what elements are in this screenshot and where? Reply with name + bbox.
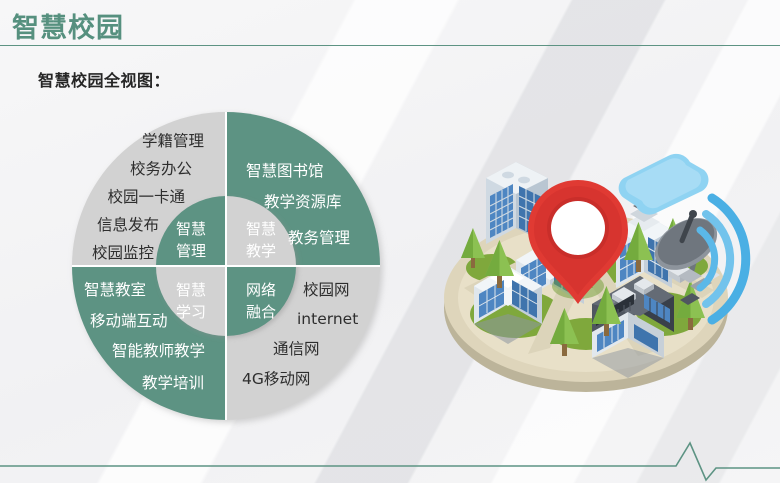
inner-label-teaching-line2: 教学: [246, 242, 276, 260]
inner-label-network-line2: 融合: [246, 303, 276, 321]
label-4g-mobile-network: 4G移动网: [242, 370, 310, 388]
label-smart-classroom: 智慧教室: [84, 281, 146, 299]
section-subtitle: 智慧校园全视图：: [38, 67, 170, 91]
label-student-status: 学籍管理: [142, 132, 204, 150]
label-school-office: 校务办公: [130, 160, 192, 178]
label-teaching-resources: 教学资源库: [264, 193, 342, 211]
label-campus-card: 校园一卡通: [107, 188, 185, 206]
slide-header: 智慧校园: [0, 0, 780, 46]
label-communication-network: 通信网: [273, 340, 320, 358]
smart-city-illustration: [428, 118, 780, 424]
ecg-heartbeat-line: [0, 443, 780, 480]
inner-label-learning-line2: 学习: [176, 303, 206, 321]
inner-label-management-line1: 智慧: [176, 220, 206, 238]
label-smart-teacher-teaching: 智能教师教学: [112, 342, 205, 360]
label-campus-network: 校园网: [303, 281, 350, 299]
cloud-icon: [619, 154, 709, 215]
smart-campus-wheel-diagram: 学籍管理 校务办公 校园一卡通 信息发布 校园监控 智慧图书馆 教学资源库 教务…: [70, 110, 382, 422]
label-campus-monitoring: 校园监控: [92, 244, 154, 262]
label-mobile-interaction: 移动端互动: [90, 312, 168, 330]
inner-label-learning-line1: 智慧: [176, 281, 206, 299]
inner-label-teaching-line1: 智慧: [246, 220, 276, 238]
label-teaching-training: 教学培训: [142, 374, 204, 392]
label-smart-library: 智慧图书馆: [246, 162, 324, 180]
inner-label-management-line2: 管理: [176, 242, 206, 260]
label-info-release: 信息发布: [97, 216, 159, 234]
label-academic-affairs: 教务管理: [288, 229, 350, 247]
header-divider: [0, 45, 780, 46]
label-internet: internet: [297, 310, 358, 328]
ecg-footer-decoration: [0, 438, 780, 483]
page-title: 智慧校园: [12, 6, 124, 45]
inner-label-network-line1: 网络: [246, 281, 276, 299]
